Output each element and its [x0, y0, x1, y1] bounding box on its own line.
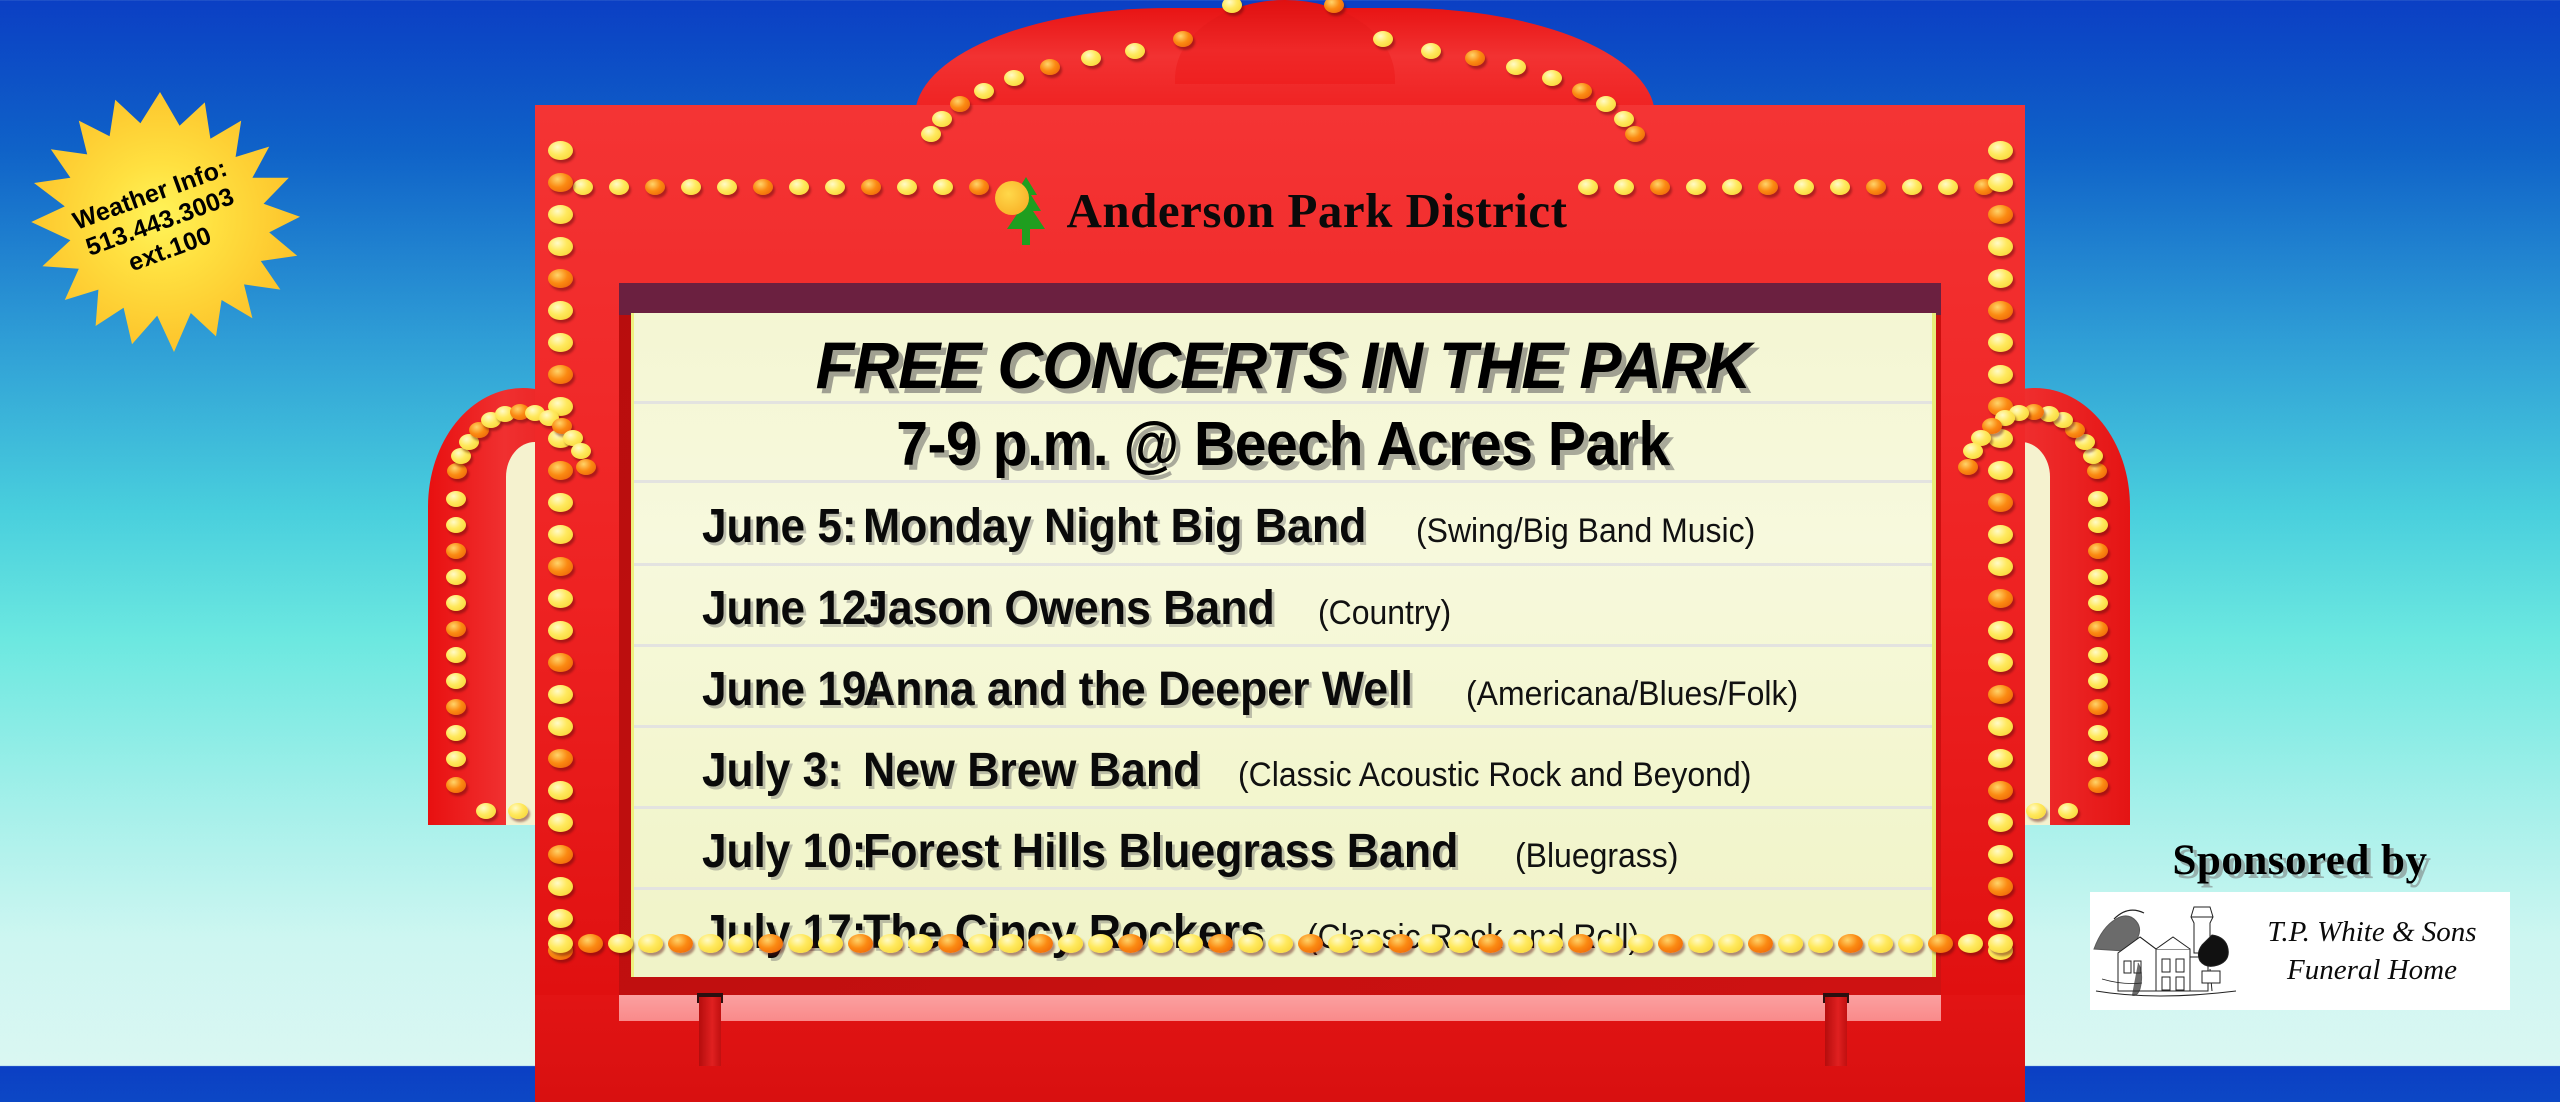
marquee-frame: Anderson Park District FREE CONCERTS IN … — [535, 105, 2025, 997]
row-separator — [634, 806, 1932, 809]
marquee-bulb — [446, 647, 466, 663]
marquee-bulb — [1421, 43, 1441, 59]
marquee-bulb — [1988, 461, 2013, 480]
sponsor-name-line-2: Funeral Home — [2242, 951, 2502, 989]
marquee-bulb — [1830, 179, 1850, 195]
marquee-bulb — [728, 934, 753, 953]
marquee-bulb — [1388, 934, 1413, 953]
marquee-bulb — [1988, 589, 2013, 608]
marquee-bulb — [1081, 50, 1101, 66]
marquee-bulb — [548, 141, 573, 160]
marquee-bulb — [1718, 934, 1743, 953]
marquee-bulb — [698, 934, 723, 953]
marquee-bulb — [446, 569, 466, 585]
marquee-bulb — [2088, 647, 2108, 663]
marquee-bulb — [1988, 237, 2013, 256]
marquee-bulb — [1928, 934, 1953, 953]
marquee-bulb — [548, 557, 573, 576]
marquee-bulb — [1625, 126, 1645, 142]
marquee-bulb — [969, 179, 989, 195]
marquee-bulb — [573, 179, 593, 195]
sponsor-name: T.P. White & Sons Funeral Home — [2242, 913, 2510, 990]
marquee-bulb — [681, 179, 701, 195]
event-genre: (Bluegrass) — [1515, 837, 1678, 876]
marquee-bulb — [548, 877, 573, 896]
marquee-bulb — [2088, 543, 2108, 559]
marquee-bulb — [2088, 777, 2108, 793]
panel-top-shade — [619, 283, 1941, 315]
marquee-bulb — [1988, 653, 2013, 672]
marquee-bulb — [638, 934, 663, 953]
marquee-bulb — [1958, 934, 1983, 953]
marquee-bulb — [1328, 934, 1353, 953]
marquee-bulb — [446, 543, 466, 559]
marquee-bulb — [1758, 179, 1778, 195]
event-row: June 5: Monday Night Big Band (Swing/Big… — [702, 499, 1777, 554]
marquee-bulb — [548, 333, 573, 352]
marquee-bulb — [861, 179, 881, 195]
event-date: June 5: — [702, 499, 845, 554]
marquee-bulb — [446, 699, 466, 715]
marquee-bulb — [1572, 83, 1592, 99]
marquee-bulb — [1988, 557, 2013, 576]
marquee-bulb — [451, 448, 471, 464]
marquee-bulb — [2088, 517, 2108, 533]
marquee-bulb — [645, 179, 665, 195]
marquee-bulb — [1686, 179, 1706, 195]
marquee-bulb — [1988, 365, 2013, 384]
event-genre: (Country) — [1318, 594, 1451, 633]
marquee-bulb — [446, 751, 466, 767]
marquee-bulb — [1988, 749, 2013, 768]
event-row: June 19: Anna and the Deeper Well (Ameri… — [702, 662, 1820, 717]
marquee-bulb — [548, 845, 573, 864]
marquee-bulb — [1148, 934, 1173, 953]
marquee-bulb — [1088, 934, 1113, 953]
marquee-bulb — [446, 595, 466, 611]
marquee-bulb — [578, 934, 603, 953]
marquee-bulb — [548, 237, 573, 256]
marquee-bulb — [1358, 934, 1383, 953]
marquee-bulb — [548, 173, 573, 192]
funeral-home-building-sketch — [2090, 895, 2242, 1007]
event-date: July 10: — [702, 824, 845, 879]
event-band: Forest Hills Bluegrass Band — [863, 824, 1458, 879]
marquee-left-leg — [699, 997, 721, 1066]
row-separator — [634, 725, 1932, 728]
marquee-bulb — [1866, 179, 1886, 195]
marquee-bulb — [1988, 934, 2013, 953]
marquee-display-panel: FREE CONCERTS IN THE PARK 7-9 p.m. @ Bee… — [631, 313, 1936, 977]
marquee-bulb — [878, 934, 903, 953]
marquee-bulb — [548, 685, 573, 704]
marquee-bulb — [548, 525, 573, 544]
panel-base-shade — [619, 995, 1941, 1021]
marquee-bulb — [1614, 111, 1634, 127]
event-date: June 19: — [702, 662, 845, 717]
marquee-bulb — [908, 934, 933, 953]
marquee-bulb — [1058, 934, 1083, 953]
marquee-bulb — [1938, 179, 1958, 195]
marquee-bulb — [446, 777, 466, 793]
row-separator — [634, 563, 1932, 566]
marquee-bulb — [1988, 781, 2013, 800]
marquee-bulb — [1988, 909, 2013, 928]
marquee-bulb — [1988, 493, 2013, 512]
marquee-bulb — [2088, 491, 2108, 507]
event-band: Anna and the Deeper Well — [863, 662, 1413, 717]
marquee-bulb — [508, 803, 528, 819]
marquee-bulb — [1988, 845, 2013, 864]
marquee-bulb — [1902, 179, 1922, 195]
marquee-bulb — [548, 589, 573, 608]
marquee-bulb — [1778, 934, 1803, 953]
marquee-bulb — [1988, 621, 2013, 640]
marquee-bulb — [446, 621, 466, 637]
marquee-bulb — [1868, 934, 1893, 953]
marquee-right-leg — [1825, 997, 1847, 1066]
marquee-bulb — [788, 934, 813, 953]
event-date: June 12: — [702, 581, 845, 636]
marquee-bulb — [1988, 301, 2013, 320]
marquee-bulb — [1794, 179, 1814, 195]
marquee-bulb — [548, 749, 573, 768]
marquee-bulb — [1238, 934, 1263, 953]
marquee-bulb — [1688, 934, 1713, 953]
marquee-bulb — [548, 934, 573, 953]
marquee-bulb — [1988, 717, 2013, 736]
marquee-bulb — [1748, 934, 1773, 953]
marquee-bulb — [1598, 934, 1623, 953]
marquee-bulb — [446, 673, 466, 689]
row-separator — [634, 644, 1932, 647]
event-genre: (Swing/Big Band Music) — [1416, 512, 1755, 551]
marquee-bulb — [1988, 173, 2013, 192]
marquee-bulb — [1808, 934, 1833, 953]
marquee-bulb — [1178, 934, 1203, 953]
event-row: June 12: Jason Owens Band (Country) — [702, 581, 1459, 636]
marquee-bulb — [1650, 179, 1670, 195]
marquee-bulb — [1988, 333, 2013, 352]
marquee-bulb — [548, 781, 573, 800]
event-genre: (Americana/Blues/Folk) — [1466, 675, 1798, 714]
marquee-bulb — [1988, 141, 2013, 160]
marquee-bulb — [1722, 179, 1742, 195]
event-band: Monday Night Big Band — [863, 499, 1366, 554]
marquee-bulb — [2088, 725, 2108, 741]
marquee-bulb — [789, 179, 809, 195]
marquee-bulb — [548, 365, 573, 384]
marquee-bulb — [548, 653, 573, 672]
marquee-bulb — [1418, 934, 1443, 953]
marquee-bulb — [1125, 43, 1145, 59]
event-row: July 10: Forest Hills Bluegrass Band (Bl… — [702, 824, 1689, 879]
marquee-bulb — [1988, 685, 2013, 704]
marquee-bulb — [2088, 751, 2108, 767]
marquee-bulb — [932, 111, 952, 127]
marquee-bulb — [1988, 813, 2013, 832]
marquee-bulb — [446, 725, 466, 741]
marquee-bulb — [548, 909, 573, 928]
marquee-bulb — [2083, 448, 2103, 464]
marquee-bulb — [548, 813, 573, 832]
sun-icon — [995, 181, 1029, 215]
marquee-bulb — [938, 934, 963, 953]
marquee-bulb — [2088, 621, 2108, 637]
marquee-bulb — [1208, 934, 1233, 953]
marquee-bulb — [1268, 934, 1293, 953]
marquee-bulb — [933, 179, 953, 195]
headline-subtitle: 7-9 p.m. @ Beech Acres Park — [686, 409, 1880, 480]
marquee-bulb — [608, 934, 633, 953]
marquee-bulb — [1658, 934, 1683, 953]
marquee-bulb — [1988, 877, 2013, 896]
sponsor-logo-card: T.P. White & Sons Funeral Home — [2090, 892, 2510, 1010]
row-separator — [634, 401, 1932, 404]
marquee-bulb — [717, 179, 737, 195]
headline-title: FREE CONCERTS IN THE PARK — [660, 327, 1906, 403]
marquee-bulb — [548, 493, 573, 512]
marquee-bulb — [1448, 934, 1473, 953]
marquee-bulb — [1508, 934, 1533, 953]
marquee-bulb — [897, 179, 917, 195]
marquee-bulb — [2058, 803, 2078, 819]
marquee-bulb — [1898, 934, 1923, 953]
marquee-bulb — [548, 205, 573, 224]
row-separator — [634, 887, 1932, 890]
marquee-bulb — [758, 934, 783, 953]
marquee-bulb — [548, 301, 573, 320]
sponsor-name-line-1: T.P. White & Sons — [2242, 913, 2502, 951]
marquee-bulb — [2026, 803, 2046, 819]
marquee-bulb — [848, 934, 873, 953]
marquee-bulb — [548, 269, 573, 288]
marquee-bulb — [1568, 934, 1593, 953]
marquee-bulb — [974, 83, 994, 99]
event-band: New Brew Band — [863, 743, 1200, 798]
marquee-bulb — [818, 934, 843, 953]
sponsor-heading: Sponsored by — [2080, 836, 2520, 885]
marquee-bulb — [753, 179, 773, 195]
marquee-bulb — [668, 934, 693, 953]
event-band: Jason Owens Band — [863, 581, 1275, 636]
marquee-bulb — [2088, 673, 2108, 689]
marquee-bulb — [548, 621, 573, 640]
marquee-bulb — [1958, 459, 1978, 475]
marquee-bulb — [576, 459, 596, 475]
marquee-bulb — [1028, 934, 1053, 953]
marquee-bulb — [1988, 269, 2013, 288]
marquee-bulb — [476, 803, 496, 819]
marquee-bulb — [1988, 205, 2013, 224]
marquee-bulb — [548, 717, 573, 736]
marquee-bulb — [1118, 934, 1143, 953]
event-row: July 3: New Brew Band (Classic Acoustic … — [702, 743, 1784, 798]
marquee-bulb — [609, 179, 629, 195]
sponsor-block: Sponsored by — [2080, 836, 2520, 1026]
marquee-bulb — [998, 934, 1023, 953]
pine-tree-with-sun-icon — [993, 173, 1059, 247]
marquee-bulb — [446, 517, 466, 533]
marquee-bulb — [1478, 934, 1503, 953]
marquee-bulb — [1988, 525, 2013, 544]
marquee-bulb — [446, 491, 466, 507]
marquee-bulb — [1614, 179, 1634, 195]
marquee-bulb — [2088, 595, 2108, 611]
marquee-bulb — [2088, 569, 2108, 585]
org-name: Anderson Park District — [1067, 182, 1568, 239]
marquee-bulb — [1838, 934, 1863, 953]
marquee-bulb — [968, 934, 993, 953]
marquee-bulb — [1298, 934, 1323, 953]
marquee-bulb — [548, 461, 573, 480]
marquee-bulb — [1538, 934, 1563, 953]
event-genre: (Classic Acoustic Rock and Beyond) — [1238, 756, 1751, 795]
marquee-bulb — [1628, 934, 1653, 953]
row-separator — [634, 480, 1932, 483]
marquee-bulb — [825, 179, 845, 195]
marquee-bulb — [1578, 179, 1598, 195]
marquee-bulb — [2088, 699, 2108, 715]
event-date: July 3: — [702, 743, 845, 798]
